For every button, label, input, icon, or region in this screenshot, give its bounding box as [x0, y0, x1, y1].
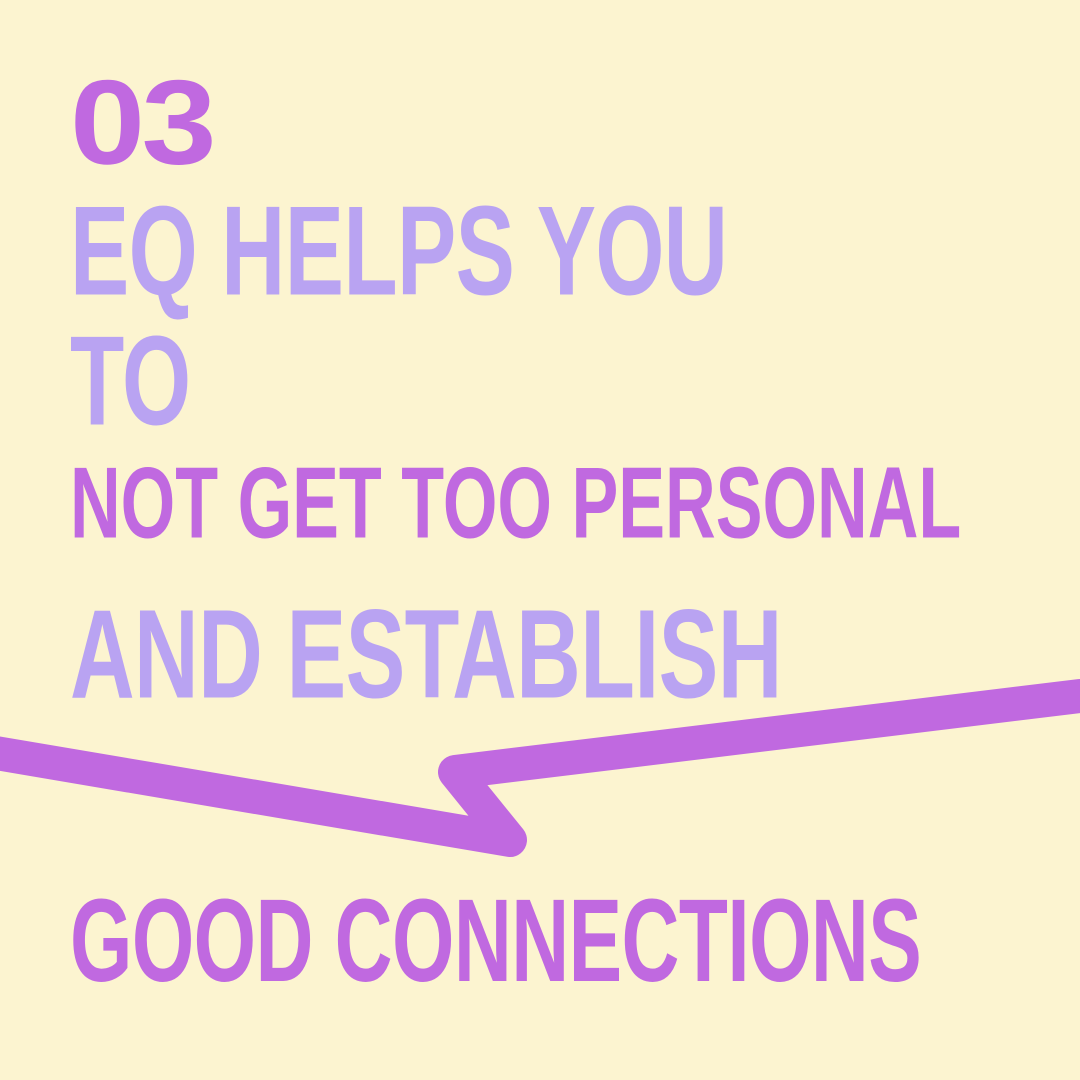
- headline-line-2: TO: [70, 318, 191, 445]
- headline-line-1: EQ HELPS YOU: [70, 188, 727, 315]
- poster-canvas: 03 EQ HELPS YOU TO NOT GET TOO PERSONAL …: [0, 0, 1080, 1080]
- headline-line-3: NOT GET TOO PERSONAL: [70, 452, 961, 553]
- headline-stack: 03 EQ HELPS YOU TO NOT GET TOO PERSONAL …: [0, 0, 1080, 1080]
- headline-line-4: AND ESTABLISH: [70, 592, 782, 718]
- step-number-badge: 03: [70, 62, 213, 182]
- headline-line-5: GOOD CONNECTIONS: [70, 882, 921, 1000]
